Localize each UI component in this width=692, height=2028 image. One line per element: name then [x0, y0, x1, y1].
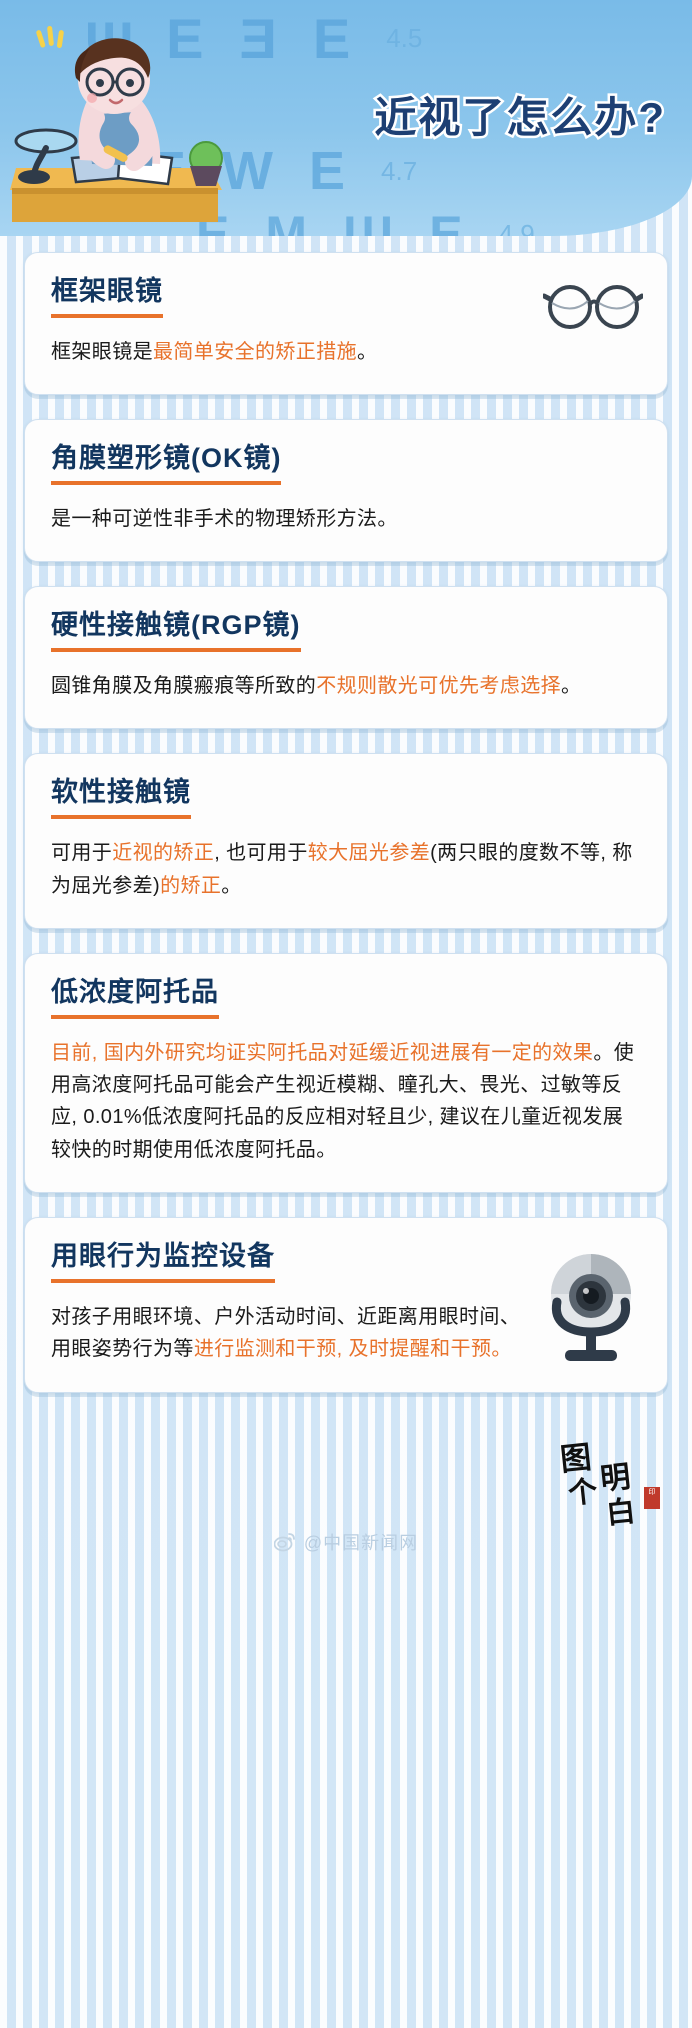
- card-rgp-lens[interactable]: 硬性接触镜(RGP镜) 圆锥角膜及角膜瘢痕等所致的不规则散光可优先考虑选择。: [24, 586, 668, 729]
- eye-chart-value-1: 4.5: [386, 23, 422, 54]
- eye-chart-letter: E: [309, 140, 347, 202]
- body-segment: , 及时提醒和干预。: [337, 1338, 512, 1360]
- body-segment: 是一种可逆性非手术的物理矫形方法。: [51, 508, 398, 530]
- card-body: 圆锥角膜及角膜瘢痕等所致的不规则散光可优先考虑选择。: [51, 670, 641, 702]
- card-body: 可用于近视的矫正, 也可用于较大屈光参差(两只眼的度数不等, 称为屈光参差)的矫…: [51, 837, 641, 902]
- card-body: 目前, 国内外研究均证实阿托品对延缓近视进展有一定的效果。使用高浓度阿托品可能会…: [51, 1037, 641, 1167]
- boy-reading-illustration: [10, 18, 250, 233]
- glasses-icon: [543, 277, 643, 333]
- eye-chart-letter: Ш: [343, 205, 395, 236]
- page-title: 近视了怎么办?: [374, 84, 666, 145]
- card-title: 硬性接触镜(RGP镜): [51, 609, 301, 652]
- body-segment-highlight: 的矫正: [160, 875, 221, 897]
- card-title: 角膜塑形镜(OK镜): [51, 442, 281, 485]
- card-title: 软性接触镜: [51, 776, 191, 819]
- body-segment-highlight: 进行监测和干预: [194, 1338, 337, 1360]
- body-segment-highlight: 目前, 国内外研究均证实阿托品对延缓近视进展有一定的效果: [51, 1042, 593, 1064]
- header-banner: ᴟ E Ǝ E 4.5 E W E 4.7 E M Ш E 4.9: [0, 0, 692, 236]
- card-body: 是一种可逆性非手术的物理矫形方法。: [51, 503, 641, 535]
- brand-logo: 图 个 明 白 印: [560, 1431, 656, 1527]
- body-segment: , 也可用于: [214, 842, 308, 864]
- body-segment: 框架眼镜是: [51, 341, 153, 363]
- seal-stamp: 印: [644, 1487, 660, 1509]
- camera-monitor-icon: [545, 1250, 637, 1368]
- brand-char: 个: [566, 1467, 599, 1512]
- card-frame-glasses[interactable]: 框架眼镜 框架眼镜是最简单安全的矫正措施。: [24, 252, 668, 395]
- infographic-page: ᴟ E Ǝ E 4.5 E W E 4.7 E M Ш E 4.9: [0, 0, 692, 2028]
- card-title: 低浓度阿托品: [51, 976, 219, 1019]
- card-body: 框架眼镜是最简单安全的矫正措施。: [51, 336, 641, 368]
- card-title: 框架眼镜: [51, 275, 163, 318]
- watermark-text: @中国新闻网: [304, 1529, 418, 1555]
- eye-chart-letter: E: [313, 6, 352, 71]
- body-segment-highlight: 不规则散光可优先考虑选择: [316, 675, 561, 697]
- watermark: @中国新闻网: [0, 1529, 692, 1555]
- card-low-dose-atropine[interactable]: 低浓度阿托品 目前, 国内外研究均证实阿托品对延缓近视进展有一定的效果。使用高浓…: [24, 953, 668, 1193]
- eye-chart-value-2: 4.7: [381, 156, 417, 187]
- sparkle-icon: [36, 26, 64, 49]
- footer: 图 个 明 白 印 @中国新闻网: [0, 1417, 692, 1567]
- card-soft-contact-lens[interactable]: 软性接触镜 可用于近视的矫正, 也可用于较大屈光参差(两只眼的度数不等, 称为屈…: [24, 753, 668, 929]
- card-title: 用眼行为监控设备: [51, 1240, 275, 1283]
- eye-chart-value-3: 4.9: [499, 219, 535, 237]
- cards-container: 框架眼镜 框架眼镜是最简单安全的矫正措施。 角膜塑形镜(OK镜) 是一种可逆性非…: [0, 236, 692, 1393]
- body-segment-highlight: 近视的矫正: [112, 842, 214, 864]
- body-segment-highlight: 最简单安全的矫正措施: [153, 341, 357, 363]
- body-segment-highlight: 较大屈光参差: [308, 842, 430, 864]
- body-segment: 圆锥角膜及角膜瘢痕等所致的: [51, 675, 316, 697]
- body-segment: 。: [221, 875, 241, 897]
- body-segment: 。: [357, 341, 377, 363]
- weibo-icon: [274, 1532, 296, 1552]
- eye-chart-letter: E: [429, 205, 464, 236]
- body-segment: 可用于: [51, 842, 112, 864]
- brand-char: 白: [604, 1487, 637, 1532]
- eye-chart-letter: M: [265, 205, 309, 236]
- card-eye-behavior-monitor[interactable]: 用眼行为监控设备 对孩子用眼环境、户外活动时间、近距离用眼时间、用眼姿势行为等进…: [24, 1217, 668, 1393]
- body-segment: 。: [561, 675, 581, 697]
- card-ortho-k-lens[interactable]: 角膜塑形镜(OK镜) 是一种可逆性非手术的物理矫形方法。: [24, 419, 668, 562]
